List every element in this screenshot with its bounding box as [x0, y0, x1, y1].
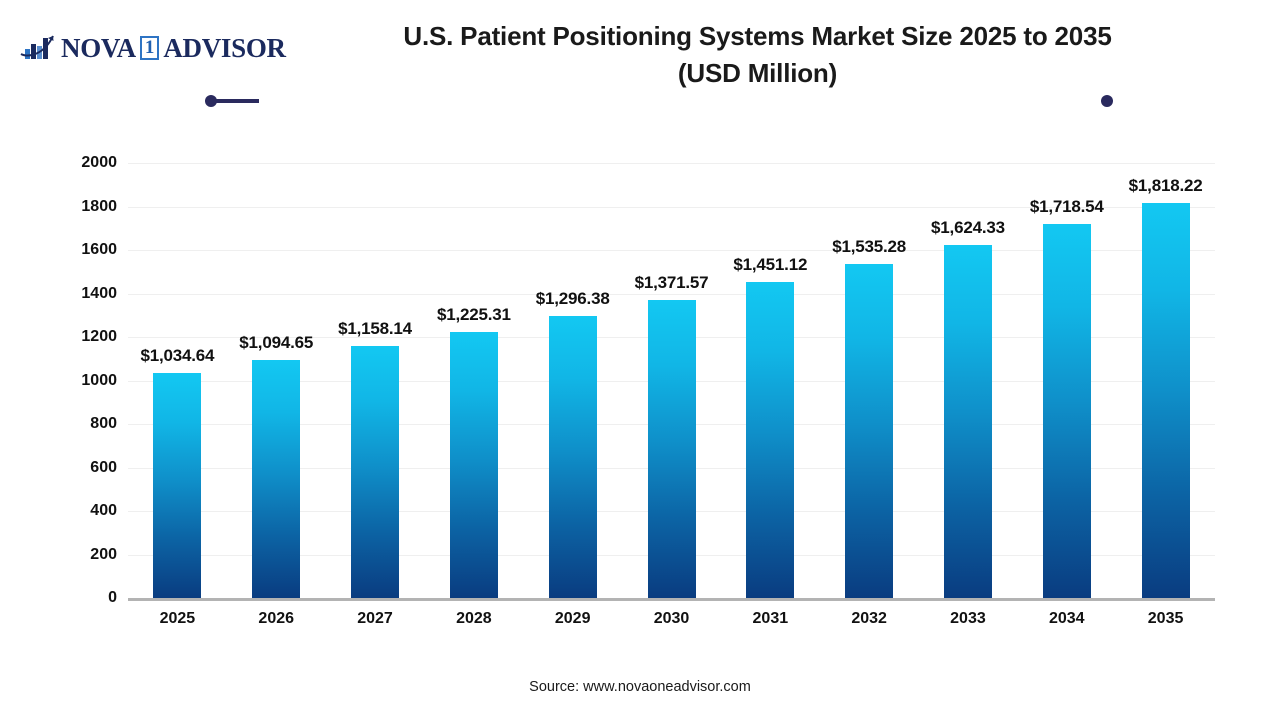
y-axis-tick-label: 2000 — [57, 154, 117, 172]
x-axis-tick-label: 2026 — [231, 610, 321, 628]
y-axis-tick-label: 600 — [57, 459, 117, 477]
x-axis-tick-label: 2029 — [528, 610, 618, 628]
x-axis-tick-label: 2027 — [330, 610, 420, 628]
y-axis-tick-label: 1000 — [57, 372, 117, 390]
bar-2029[interactable] — [549, 316, 597, 598]
x-axis-tick-label: 2032 — [824, 610, 914, 628]
bar-group: $1,535.28 — [845, 163, 893, 598]
bar-value-label: $1,535.28 — [832, 237, 906, 257]
y-axis-tick-label: 200 — [57, 546, 117, 564]
bar-value-label: $1,818.22 — [1129, 176, 1203, 196]
y-axis-tick-label: 1600 — [57, 241, 117, 259]
x-axis-tick-label: 2025 — [132, 610, 222, 628]
bar-2031[interactable] — [746, 282, 794, 598]
bar-2028[interactable] — [450, 332, 498, 599]
bar-group: $1,225.31 — [450, 163, 498, 598]
bar-group: $1,158.14 — [351, 163, 399, 598]
bar-2030[interactable] — [648, 300, 696, 598]
bar-chart: $1,034.64$1,094.65$1,158.14$1,225.31$1,2… — [0, 0, 1280, 720]
bar-value-label: $1,094.65 — [239, 333, 313, 353]
bar-value-label: $1,034.64 — [140, 346, 214, 366]
bar-value-label: $1,718.54 — [1030, 197, 1104, 217]
y-axis-tick-label: 1200 — [57, 328, 117, 346]
bar-group: $1,718.54 — [1043, 163, 1091, 598]
x-axis-tick-label: 2028 — [429, 610, 519, 628]
bar-2025[interactable] — [153, 373, 201, 598]
y-axis-tick-label: 400 — [57, 502, 117, 520]
bar-group: $1,451.12 — [746, 163, 794, 598]
x-axis-tick-label: 2030 — [627, 610, 717, 628]
x-axis-tick-label: 2031 — [725, 610, 815, 628]
x-axis-tick-label: 2033 — [923, 610, 1013, 628]
bar-2033[interactable] — [944, 245, 992, 598]
y-axis-tick-label: 1400 — [57, 285, 117, 303]
y-axis-tick-label: 0 — [57, 589, 117, 607]
bar-2034[interactable] — [1043, 224, 1091, 598]
bar-value-label: $1,371.57 — [635, 273, 709, 293]
bar-value-label: $1,624.33 — [931, 218, 1005, 238]
bar-value-label: $1,158.14 — [338, 319, 412, 339]
x-axis-tick-label: 2034 — [1022, 610, 1112, 628]
y-axis-tick-label: 1800 — [57, 198, 117, 216]
bar-2035[interactable] — [1142, 203, 1190, 598]
x-axis-tick-label: 2035 — [1121, 610, 1211, 628]
bar-group: $1,034.64 — [153, 163, 201, 598]
bar-group: $1,296.38 — [549, 163, 597, 598]
plot-area: $1,034.64$1,094.65$1,158.14$1,225.31$1,2… — [128, 163, 1215, 598]
bar-value-label: $1,451.12 — [733, 255, 807, 275]
bar-group: $1,818.22 — [1142, 163, 1190, 598]
x-axis-line — [128, 598, 1215, 601]
bar-2032[interactable] — [845, 264, 893, 598]
bar-group: $1,371.57 — [648, 163, 696, 598]
bar-2027[interactable] — [351, 346, 399, 598]
bar-group: $1,094.65 — [252, 163, 300, 598]
bar-value-label: $1,296.38 — [536, 289, 610, 309]
bar-group: $1,624.33 — [944, 163, 992, 598]
bar-value-label: $1,225.31 — [437, 305, 511, 325]
bar-2026[interactable] — [252, 360, 300, 598]
source-caption: Source: www.novaoneadvisor.com — [0, 679, 1280, 695]
y-axis-tick-label: 800 — [57, 415, 117, 433]
